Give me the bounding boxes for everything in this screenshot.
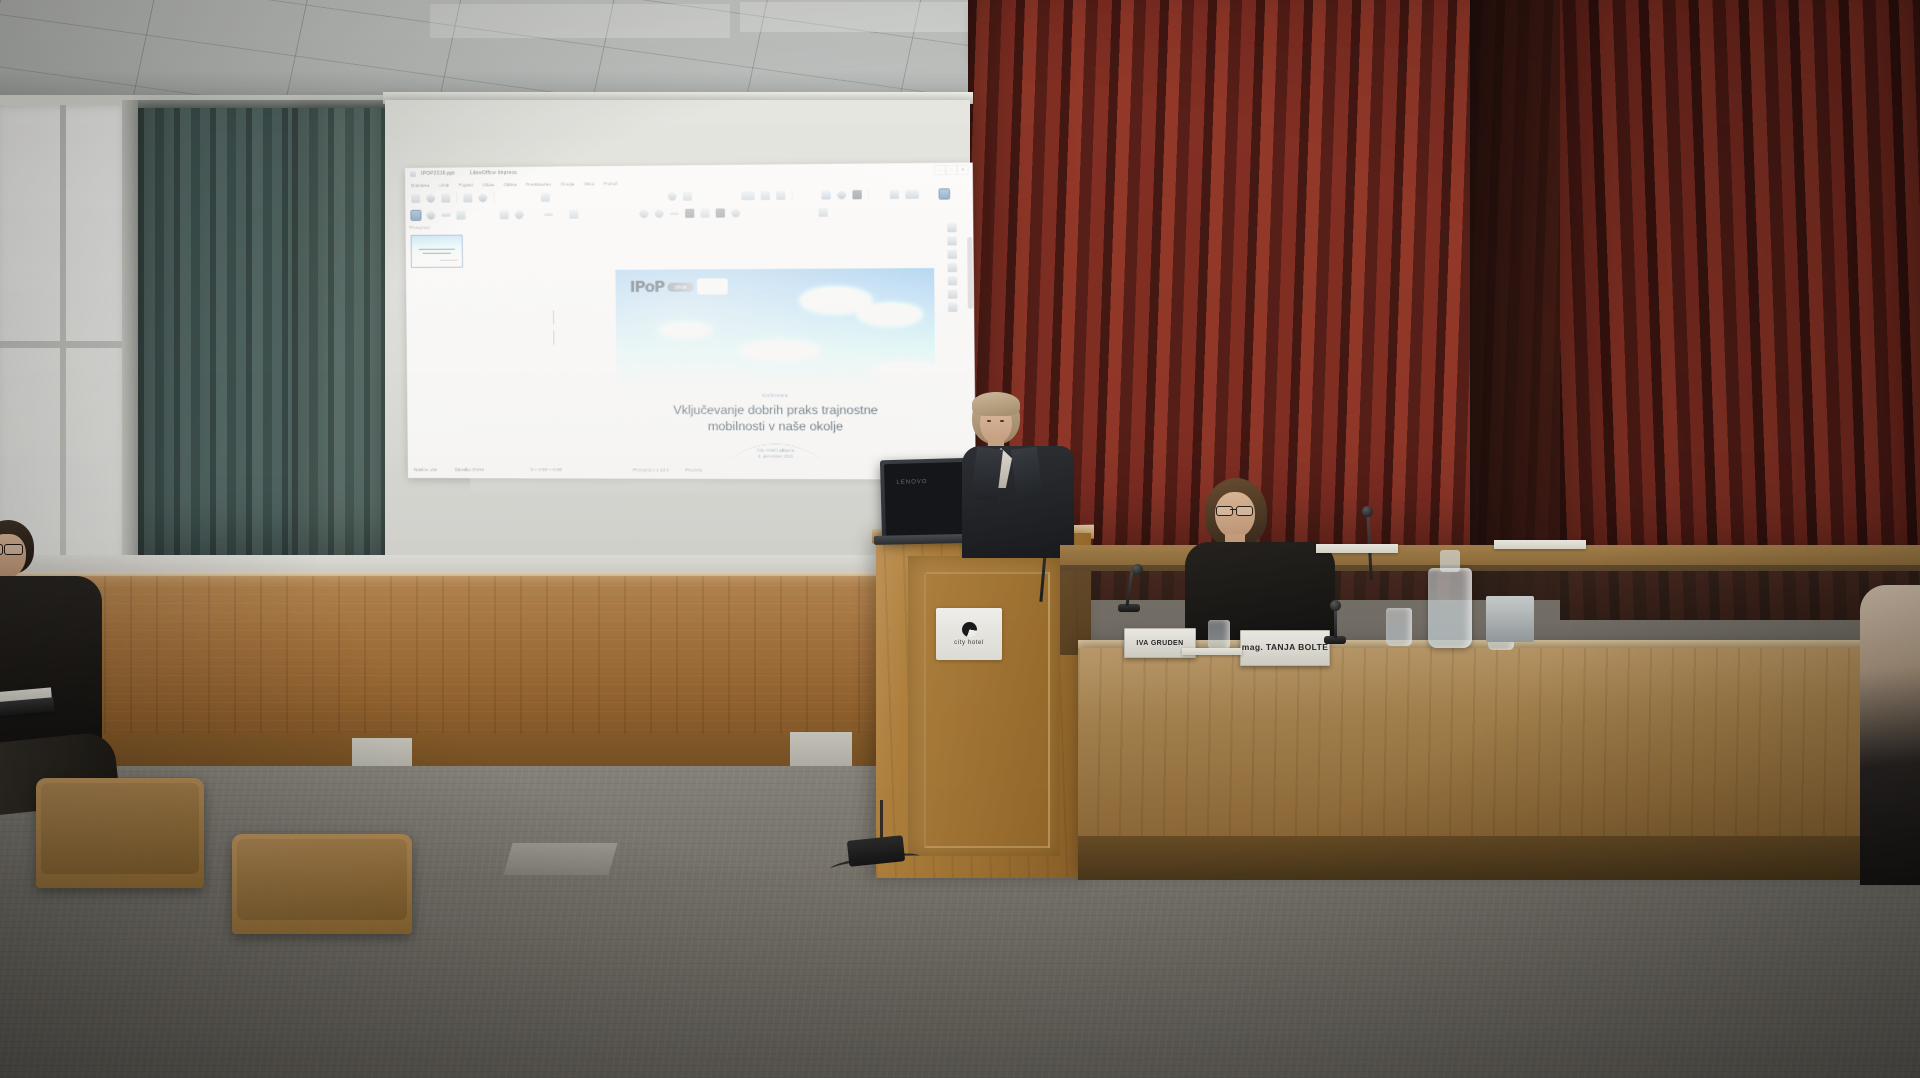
toolbar-separator xyxy=(792,190,793,201)
select-icon[interactable] xyxy=(411,210,420,219)
find-replace-icon[interactable] xyxy=(683,192,692,201)
slide-transition-icon[interactable] xyxy=(947,236,956,245)
special-char-icon[interactable] xyxy=(852,190,861,199)
panelist-glasses-bridge xyxy=(1230,509,1236,510)
status-layout: Prosojnica 1 od 1 xyxy=(633,467,669,472)
slide-title: Vključevanje dobrih praks trajnostne mob… xyxy=(633,402,919,435)
save-icon[interactable] xyxy=(441,194,450,203)
slides-pane-label: Prosojnice xyxy=(406,223,468,230)
line-color-icon[interactable] xyxy=(426,210,435,219)
presenter-eye xyxy=(987,420,991,422)
arrow-icon[interactable] xyxy=(569,209,578,218)
ipop-year-badge: 2016 xyxy=(667,282,694,291)
audience-chair xyxy=(36,778,204,888)
ipop-logo-text: IPoP xyxy=(630,279,665,294)
status-size: 0 × 0,00 × 0,00 xyxy=(531,467,562,472)
audience-glasses-left xyxy=(0,544,3,555)
presenter-person xyxy=(960,392,1080,557)
text-box-icon[interactable] xyxy=(821,190,830,199)
drinking-glass xyxy=(1208,620,1230,650)
panel-table-lower-edge xyxy=(1078,836,1920,880)
toolbar-separator xyxy=(493,192,494,203)
slide-canvas[interactable]: IPoP 2016 konferenca Vključevanje dobrih… xyxy=(468,219,961,461)
audience-torso xyxy=(0,576,102,756)
curve-icon[interactable] xyxy=(639,209,648,218)
cloud-decoration xyxy=(659,322,712,338)
animation-icon[interactable] xyxy=(947,250,956,259)
menu-vstavi[interactable]: Vstavi xyxy=(482,182,495,187)
table-icon[interactable] xyxy=(776,191,785,200)
undo-icon[interactable] xyxy=(463,193,472,202)
device-on-table xyxy=(1486,596,1534,642)
search-icon[interactable] xyxy=(668,192,677,201)
slide-logo: IPoP 2016 xyxy=(630,278,728,295)
presenter-eye xyxy=(1000,420,1004,422)
scrollbar-thumb[interactable] xyxy=(967,237,973,309)
guide-mark xyxy=(553,310,554,324)
panel-mic-head xyxy=(1362,506,1373,517)
conference-room-photo: IPOP2016.ppt LibreOffice Impress – □ ✕ D… xyxy=(0,0,1920,1078)
align-icon[interactable] xyxy=(685,208,694,217)
panel-mic-head xyxy=(1330,600,1341,611)
thumb-sub-line xyxy=(440,260,458,261)
menu-pogled[interactable]: Pogled xyxy=(459,182,473,187)
styles-icon[interactable] xyxy=(947,276,956,285)
print-icon[interactable] xyxy=(541,193,550,202)
rectangle-icon[interactable] xyxy=(500,210,509,219)
person-right-edge xyxy=(1860,585,1920,885)
properties-icon[interactable] xyxy=(947,223,956,232)
window xyxy=(0,105,128,575)
cloud-decoration xyxy=(873,362,937,380)
redo-icon[interactable] xyxy=(478,193,487,202)
projected-presentation-app: IPOP2016.ppt LibreOffice Impress – □ ✕ D… xyxy=(405,163,976,480)
document-name: IPOP2016.ppt xyxy=(421,171,455,177)
slide-thumbnail-1[interactable] xyxy=(411,235,463,268)
chair-cushion xyxy=(41,783,199,874)
panelist-glasses-left xyxy=(1216,506,1233,516)
impress-window: IPOP2016.ppt LibreOffice Impress – □ ✕ D… xyxy=(405,163,976,480)
partner-logo-mark xyxy=(697,278,728,294)
slide-title-line2: mobilnosti v naše okolje xyxy=(633,418,919,435)
status-slide-info: Naslov, vse. xyxy=(414,467,439,472)
ceiling-panel xyxy=(740,2,990,32)
guide-mark xyxy=(553,331,554,345)
panel-mic-head xyxy=(1132,564,1143,575)
toolbar-separator xyxy=(456,193,457,204)
fill-color-icon[interactable] xyxy=(441,213,450,217)
toolbar-separator xyxy=(868,189,869,200)
paper-on-table xyxy=(1182,648,1242,655)
ceiling-panel xyxy=(430,4,730,38)
cloud-decoration xyxy=(739,340,821,360)
menu-orodja[interactable]: Orodja xyxy=(560,181,574,186)
menu-oblika[interactable]: Oblika xyxy=(504,181,517,186)
maximize-button[interactable]: □ xyxy=(946,165,958,175)
laptop-brand-logo: LENOVO xyxy=(896,479,927,486)
status-layout-name: Privzeto xyxy=(685,467,702,472)
nameplate-text: IVA GRUDEN xyxy=(1136,640,1183,647)
chart-icon[interactable] xyxy=(761,191,770,200)
image-icon[interactable] xyxy=(741,191,754,200)
window-mullion xyxy=(60,105,66,575)
line-icon[interactable] xyxy=(544,212,553,215)
hyperlink-icon[interactable] xyxy=(837,190,846,199)
shadow-icon[interactable] xyxy=(456,210,465,219)
status-object-label: Številka zbirke xyxy=(455,467,485,472)
paper-on-table xyxy=(1494,540,1586,549)
audience-chair xyxy=(232,834,412,934)
nameplate-tanja-bolte: mag. TANJA BOLTE xyxy=(1240,630,1330,666)
app-icon xyxy=(410,171,416,177)
chair-cushion xyxy=(237,839,407,920)
nameplate-text: mag. TANJA BOLTE xyxy=(1242,643,1329,652)
cloud-decoration xyxy=(858,303,923,326)
crop-icon[interactable] xyxy=(716,208,725,217)
snap-icon[interactable] xyxy=(905,190,919,199)
thumb-title-line xyxy=(419,249,455,251)
minimize-button[interactable]: – xyxy=(934,165,946,175)
drinking-glass xyxy=(1386,608,1412,646)
connector-icon[interactable] xyxy=(654,208,663,217)
thumb-title-line xyxy=(423,253,451,254)
audience-glasses-right xyxy=(4,544,23,555)
menu-uredi[interactable]: Uredi xyxy=(439,182,450,187)
curtain-far-right-red xyxy=(1560,0,1920,620)
crescent-icon xyxy=(962,622,977,637)
water-carafe xyxy=(1428,568,1472,648)
podium-plate-text: city hotel xyxy=(954,640,984,646)
filter-icon[interactable] xyxy=(731,208,740,217)
open-icon[interactable] xyxy=(426,194,435,203)
slideshow-icon[interactable] xyxy=(940,189,949,198)
navigator-icon[interactable] xyxy=(947,303,956,312)
podium-brand-plate: city hotel xyxy=(936,608,1002,660)
gluepoints-icon[interactable] xyxy=(818,207,827,216)
paper-on-table xyxy=(1316,544,1398,553)
presenter-fringe xyxy=(972,392,1020,416)
slide-title-line1: Vključevanje dobrih praks trajnostne xyxy=(633,402,919,418)
menu-predstavitev[interactable]: Predstavitev xyxy=(526,181,552,186)
slides-pane[interactable]: Prosojnice xyxy=(406,223,471,461)
slide-eyebrow: konferenca xyxy=(617,393,936,398)
master-slides-icon[interactable] xyxy=(947,263,956,272)
grid-icon[interactable] xyxy=(890,190,899,199)
menu-pomoc[interactable]: Pomoč xyxy=(604,181,619,186)
menu-datoteka[interactable]: Datoteka xyxy=(411,182,429,187)
panelist-glasses-right xyxy=(1236,506,1253,516)
arrange-icon[interactable] xyxy=(700,208,709,217)
floor-access-panel xyxy=(503,843,617,875)
panel-mic-base xyxy=(1118,604,1140,612)
rotate-icon[interactable] xyxy=(670,211,679,214)
menu-okno[interactable]: Okno xyxy=(583,181,594,186)
app-name: LibreOffice Impress xyxy=(470,170,517,176)
ellipse-icon[interactable] xyxy=(515,210,524,219)
gallery-icon[interactable] xyxy=(947,289,956,298)
window-frame xyxy=(122,100,138,590)
close-button[interactable]: ✕ xyxy=(957,165,969,175)
new-icon[interactable] xyxy=(411,194,420,203)
presentation-slide[interactable]: IPoP 2016 konferenca Vključevanje dobrih… xyxy=(615,268,936,479)
